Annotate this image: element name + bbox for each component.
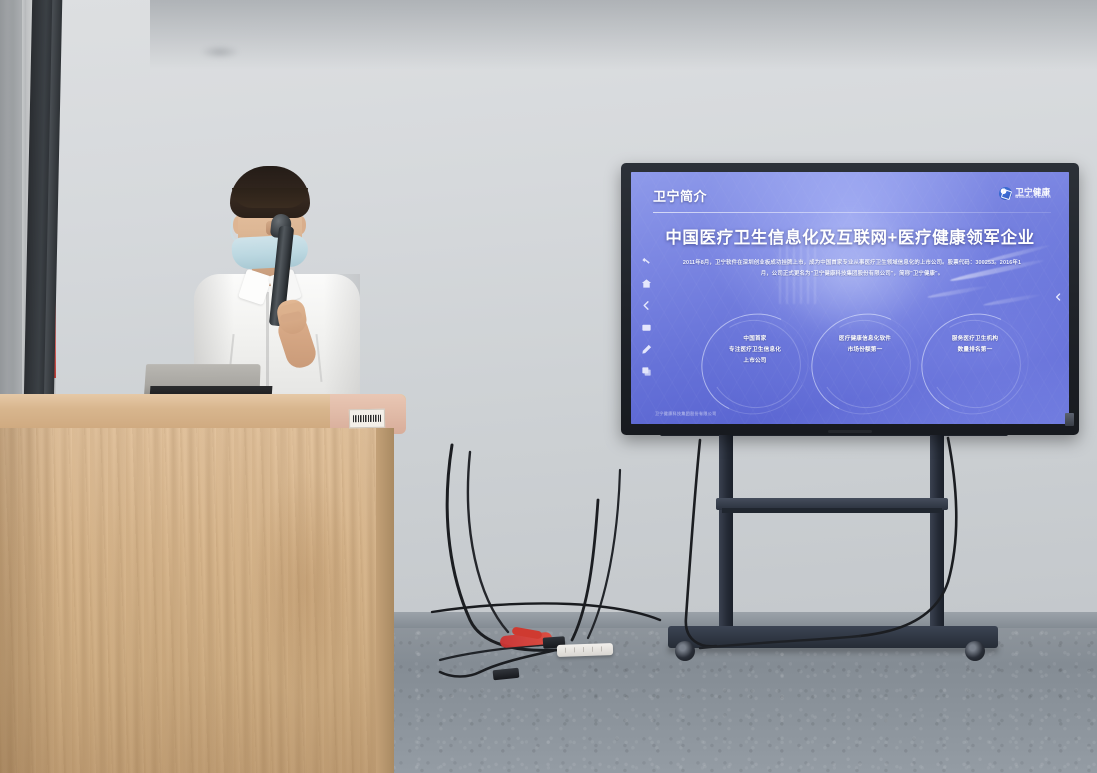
collapse-chevron-icon[interactable] xyxy=(1053,290,1063,304)
slide-headline: 中国医疗卫生信息化及互联网+医疗健康领军企业 xyxy=(631,224,1069,248)
highlight-3-line-1: 服务医疗卫生机构 xyxy=(925,334,1025,345)
rectangle-icon[interactable] xyxy=(641,322,652,333)
highlight-3-text: 服务医疗卫生机构 数量排名第一 xyxy=(925,334,1025,356)
interactive-flat-panel-display[interactable]: 卫宁简介 卫宁健康 WINNING HEALTH 中国医疗卫生信息化及互联网+医… xyxy=(621,163,1079,435)
pages-icon[interactable] xyxy=(641,366,652,377)
winning-health-logo-icon xyxy=(999,187,1012,200)
shirt-shadow-right xyxy=(324,274,360,406)
presentation-slide[interactable]: 卫宁简介 卫宁健康 WINNING HEALTH 中国医疗卫生信息化及互联网+医… xyxy=(631,172,1069,424)
face-mask xyxy=(231,234,309,270)
logo-text: 卫宁健康 WINNING HEALTH xyxy=(1015,188,1051,200)
back-chevron-icon[interactable] xyxy=(641,300,652,311)
undo-icon[interactable] xyxy=(641,256,652,267)
curtain-fold-shadow xyxy=(0,0,22,420)
cart-shelf-front-edge xyxy=(722,508,942,513)
slide-watermark: 卫宁健康科技集团股份有限公司 xyxy=(655,411,717,417)
company-logo: 卫宁健康 WINNING HEALTH xyxy=(999,187,1051,200)
barcode-icon xyxy=(353,415,381,422)
highlight-circle-2: 医疗健康信息化软件 市场份额第一 xyxy=(811,314,919,414)
highlight-2-text: 医疗健康信息化软件 市场份额第一 xyxy=(815,334,915,356)
hair-fringe xyxy=(232,188,308,208)
ceiling-shadow xyxy=(150,0,1097,70)
display-ir-sensor xyxy=(1065,413,1074,426)
highlight-1-line-3: 上市公司 xyxy=(705,356,805,367)
cart-post-left xyxy=(719,433,733,633)
highlight-1-line-1: 中国首家 xyxy=(705,334,805,345)
scene-root: 卫宁简介 卫宁健康 WINNING HEALTH 中国医疗卫生信息化及互联网+医… xyxy=(0,0,1097,773)
highlight-3-line-2: 数量排名第一 xyxy=(925,345,1025,356)
logo-text-en: WINNING HEALTH xyxy=(1015,196,1051,199)
podium-right-edge xyxy=(376,428,394,773)
asset-tag-sticker xyxy=(349,409,385,429)
highlight-1-text: 中国首家 专注医疗卫生信息化 上市公司 xyxy=(705,334,805,367)
slide-header: 卫宁简介 卫宁健康 WINNING HEALTH xyxy=(653,186,1051,212)
home-icon[interactable] xyxy=(641,278,652,289)
highlight-2-line-2: 市场份额第一 xyxy=(815,345,915,356)
cart-post-right xyxy=(930,433,944,633)
pen-icon[interactable] xyxy=(641,344,652,355)
caster-wheel-left xyxy=(675,641,695,661)
highlight-circle-1: 中国首家 专注医疗卫生信息化 上市公司 xyxy=(701,314,809,414)
highlight-circle-3: 服务医疗卫生机构 数量排名第一 xyxy=(921,314,1029,414)
highlight-1-line-2: 专注医疗卫生信息化 xyxy=(705,345,805,356)
power-strip xyxy=(557,643,613,657)
wall-smudge xyxy=(200,45,240,59)
caster-wheel-right xyxy=(965,641,985,661)
slide-header-title: 卫宁简介 xyxy=(653,186,1051,205)
display-screen[interactable]: 卫宁简介 卫宁健康 WINNING HEALTH 中国医疗卫生信息化及互联网+医… xyxy=(631,172,1069,424)
display-brand-strip xyxy=(828,430,872,433)
highlight-2-line-1: 医疗健康信息化软件 xyxy=(815,334,915,345)
slide-highlights: 中国首家 专注医疗卫生信息化 上市公司 医疗健康信息化软件 市场份额第一 xyxy=(665,314,1045,414)
podium-wood-knot xyxy=(250,470,360,700)
slide-body-text: 2011年8月，卫宁软件在深圳创业板成功挂牌上市，成为中国首家专业从事医疗卫生领… xyxy=(681,258,1023,279)
screen-toolbar[interactable] xyxy=(638,256,654,377)
slide-header-divider xyxy=(653,212,1051,213)
cart-base xyxy=(668,626,998,648)
podium-shadow xyxy=(0,428,60,773)
